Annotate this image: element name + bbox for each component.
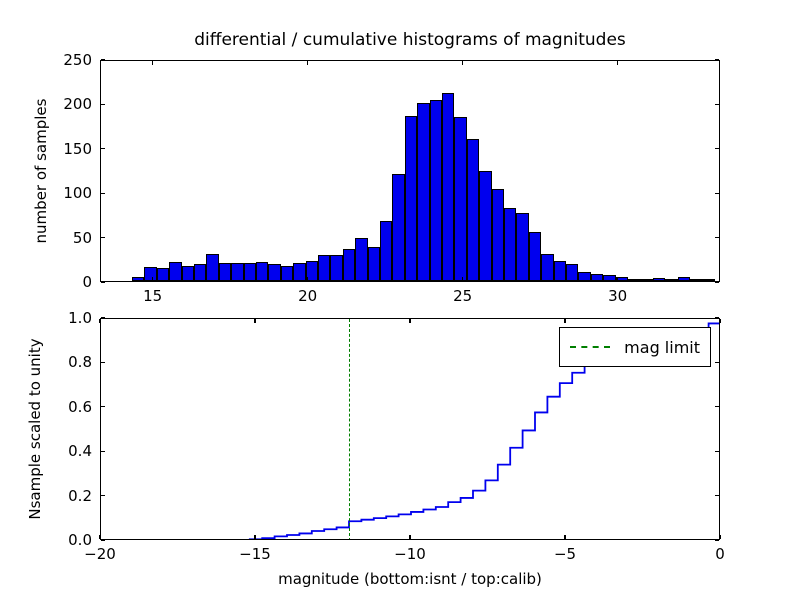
bottom-y-tickmark bbox=[101, 495, 105, 496]
histogram-bar bbox=[591, 274, 603, 281]
bottom-plot-axes: mag limit bbox=[100, 318, 720, 540]
top-y-tickmark-right bbox=[715, 193, 719, 194]
bottom-x-tickmark bbox=[564, 535, 565, 539]
histogram-bar bbox=[169, 262, 181, 281]
top-y-tickmark-right bbox=[715, 148, 719, 149]
top-x-tick-label: 20 bbox=[298, 287, 317, 305]
bottom-y-tick-label: 0.4 bbox=[34, 442, 92, 460]
histogram-bar bbox=[492, 189, 504, 281]
top-y-tickmark-right bbox=[715, 281, 719, 282]
top-y-tick-label: 150 bbox=[40, 140, 92, 158]
bottom-y-tickmark bbox=[101, 406, 105, 407]
bottom-x-tick-label: −5 bbox=[554, 545, 576, 563]
top-y-tickmark bbox=[101, 237, 105, 238]
bottom-x-tickmark-upper bbox=[564, 319, 565, 323]
bottom-x-tickmark-upper bbox=[254, 319, 255, 323]
histogram-bar bbox=[256, 262, 268, 281]
bottom-y-tick-label: 1.0 bbox=[34, 309, 92, 327]
top-y-tickmark bbox=[101, 281, 105, 282]
histogram-bar bbox=[281, 266, 293, 281]
histogram-bar bbox=[417, 103, 429, 281]
bottom-y-tickmark-right bbox=[715, 451, 719, 452]
bottom-y-tick-label: 0.2 bbox=[34, 487, 92, 505]
histogram-bar bbox=[554, 261, 566, 281]
histogram-bar bbox=[566, 264, 578, 281]
histogram-bar bbox=[268, 264, 280, 281]
top-y-tickmark-right bbox=[715, 104, 719, 105]
top-y-tickmark-right bbox=[715, 59, 719, 60]
top-plot-axes bbox=[100, 60, 720, 282]
bottom-y-tickmark bbox=[101, 451, 105, 452]
mag-limit-line-swatch-icon bbox=[570, 346, 610, 348]
bottom-x-tickmark-upper bbox=[409, 319, 410, 323]
bottom-y-tickmark bbox=[101, 539, 105, 540]
histogram-bar bbox=[405, 116, 417, 281]
top-x-tickmark-upper bbox=[617, 61, 618, 65]
top-y-tick-label: 200 bbox=[40, 95, 92, 113]
histogram-bar bbox=[678, 277, 690, 281]
histogram-bar bbox=[144, 267, 156, 281]
histogram-bar bbox=[467, 139, 479, 281]
top-x-tick-label: 30 bbox=[608, 287, 627, 305]
histogram-bar bbox=[219, 263, 231, 281]
histogram-bar bbox=[157, 268, 169, 281]
histogram-bar bbox=[392, 174, 404, 281]
histogram-bar bbox=[640, 279, 652, 281]
bottom-plot-ylabel: Nsample scaled to unity bbox=[26, 318, 44, 540]
top-y-tickmark bbox=[101, 59, 105, 60]
bottom-y-tickmark-right bbox=[715, 317, 719, 318]
top-x-tick-label: 25 bbox=[453, 287, 472, 305]
top-x-tickmark bbox=[462, 277, 463, 281]
histogram-bar bbox=[368, 247, 380, 281]
histogram-bar bbox=[479, 171, 491, 281]
legend: mag limit bbox=[559, 327, 711, 367]
bottom-y-tickmark-right bbox=[715, 539, 719, 540]
bottom-y-tickmark bbox=[101, 317, 105, 318]
bottom-y-tickmark-right bbox=[715, 406, 719, 407]
histogram-bar bbox=[330, 255, 342, 281]
bottom-y-tickmark bbox=[101, 362, 105, 363]
legend-label-mag-limit: mag limit bbox=[624, 338, 700, 357]
histogram-bar bbox=[132, 277, 144, 281]
histogram-bar bbox=[454, 117, 466, 281]
histogram-bar bbox=[318, 255, 330, 281]
top-x-tickmark bbox=[307, 277, 308, 281]
bottom-plot-xlabel: magnitude (bottom:isnt / top:calib) bbox=[100, 570, 720, 588]
bottom-x-tickmark-upper bbox=[719, 319, 720, 323]
histogram-bar bbox=[516, 213, 528, 281]
top-y-tick-label: 250 bbox=[40, 51, 92, 69]
top-y-tick-label: 100 bbox=[40, 184, 92, 202]
bottom-y-tick-label: 0.6 bbox=[34, 398, 92, 416]
bottom-x-tick-label: −10 bbox=[394, 545, 426, 563]
top-x-tickmark-upper bbox=[307, 61, 308, 65]
bottom-y-tick-label: 0.8 bbox=[34, 353, 92, 371]
histogram-bar bbox=[529, 232, 541, 281]
top-y-tickmark bbox=[101, 148, 105, 149]
matplotlib-figure: differential / cumulative histograms of … bbox=[0, 0, 800, 600]
mag-limit-vline bbox=[349, 319, 350, 539]
histogram-bar bbox=[603, 275, 615, 281]
histogram-bar bbox=[628, 279, 640, 281]
bottom-x-tickmark bbox=[719, 535, 720, 539]
bottom-x-tickmark bbox=[99, 535, 100, 539]
bottom-y-tickmark-right bbox=[715, 495, 719, 496]
bottom-x-tick-label: 0 bbox=[715, 545, 725, 563]
histogram-bar bbox=[380, 221, 392, 281]
top-y-tickmark bbox=[101, 193, 105, 194]
histogram-bar bbox=[293, 263, 305, 281]
bottom-x-tickmark-upper bbox=[99, 319, 100, 323]
histogram-bar bbox=[504, 208, 516, 281]
histogram-bar bbox=[690, 279, 702, 281]
histogram-bar bbox=[578, 272, 590, 281]
top-x-tickmark-upper bbox=[462, 61, 463, 65]
histogram-bar bbox=[343, 249, 355, 281]
figure-title: differential / cumulative histograms of … bbox=[100, 30, 720, 50]
histogram-bar bbox=[231, 263, 243, 281]
histogram-bar bbox=[442, 93, 454, 281]
top-x-tickmark-upper bbox=[152, 61, 153, 65]
top-x-tickmark bbox=[152, 277, 153, 281]
histogram-bar bbox=[244, 263, 256, 281]
histogram-bar bbox=[206, 254, 218, 281]
top-y-tickmark-right bbox=[715, 237, 719, 238]
bottom-x-tickmark bbox=[409, 535, 410, 539]
top-y-tick-label: 0 bbox=[40, 273, 92, 291]
histogram-bar bbox=[653, 278, 665, 281]
bottom-y-tickmark-right bbox=[715, 362, 719, 363]
histogram-plot-area bbox=[101, 61, 719, 281]
histogram-bar bbox=[665, 279, 677, 281]
top-x-tick-label: 15 bbox=[143, 287, 162, 305]
histogram-bar bbox=[430, 100, 442, 281]
bottom-x-tick-label: −20 bbox=[84, 545, 116, 563]
histogram-bar bbox=[194, 264, 206, 281]
top-y-tickmark bbox=[101, 104, 105, 105]
histogram-bar bbox=[182, 266, 194, 281]
histogram-bar bbox=[355, 238, 367, 282]
top-y-tick-label: 50 bbox=[40, 229, 92, 247]
top-plot-ylabel: number of samples bbox=[32, 60, 50, 282]
top-x-tickmark bbox=[617, 277, 618, 281]
histogram-bar bbox=[702, 279, 714, 281]
bottom-x-tickmark bbox=[254, 535, 255, 539]
histogram-bar bbox=[541, 254, 553, 281]
bottom-x-tick-label: −15 bbox=[239, 545, 271, 563]
